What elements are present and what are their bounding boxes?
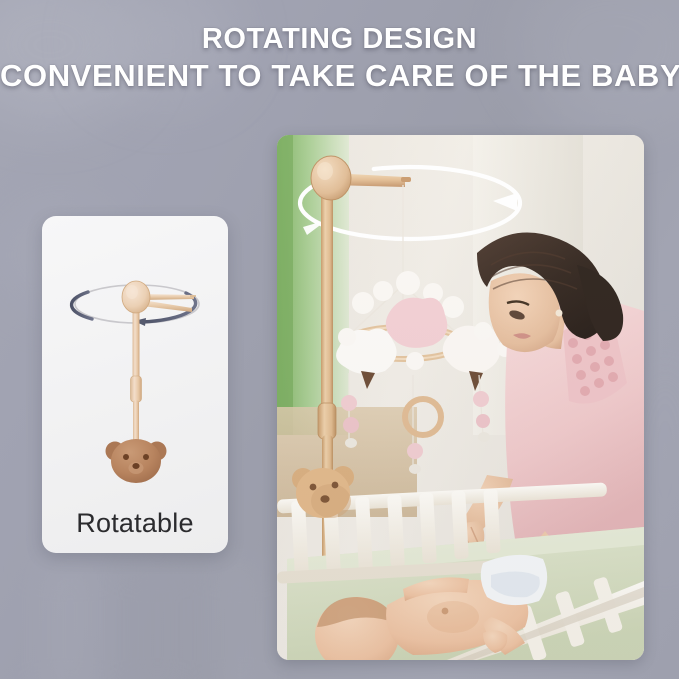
pompom-pink-5 [476, 414, 490, 428]
baby-belly-shade [427, 601, 479, 633]
photo-bear-nose [320, 495, 329, 503]
background-streak-1 [40, 560, 100, 679]
bead-left [345, 438, 357, 448]
pompom-top-5 [442, 296, 464, 318]
mother-earring [556, 310, 563, 317]
pompom-pink-2 [343, 417, 359, 433]
photo-mobile-pole-upper [321, 183, 333, 408]
bear-face [111, 439, 161, 483]
feature-card: Rotatable [42, 216, 228, 553]
bear-eye-left [123, 454, 129, 460]
bear-eye-right [143, 454, 149, 460]
rotatable-illustration [42, 216, 228, 488]
pompom-top-3 [396, 271, 420, 295]
mobile-pole-upper [133, 304, 140, 382]
photo-bear-eye-left [310, 484, 317, 491]
page-title: ROTATING DESIGN CONVENIENT TO TAKE CARE … [0, 22, 679, 95]
bear-head-clip [106, 439, 167, 483]
pompom-pink-4 [473, 391, 489, 407]
photo-mobile-pole-joint [318, 403, 336, 439]
pivot-disc-highlight [126, 285, 138, 299]
bead-right [478, 432, 490, 442]
photo-pivot-disc-highlight [317, 162, 333, 180]
title-line-2: CONVENIENT TO TAKE CARE OF THE BABY [0, 57, 679, 95]
bear-nose [132, 463, 139, 469]
photo-green-wall-edge [277, 135, 293, 435]
mobile-pole-joint [131, 376, 142, 402]
pompom-white-b [406, 352, 424, 370]
title-line-1: ROTATING DESIGN [0, 22, 679, 57]
pompom-white-c [474, 322, 492, 340]
pompom-pink-1 [341, 395, 357, 411]
pompom-top-1 [352, 292, 374, 314]
photo-pivot-disc [311, 156, 351, 200]
baby-navel [442, 608, 449, 615]
background-streak-3 [215, 560, 265, 679]
nursery-photo [277, 135, 644, 660]
photo-bear-face-shade [311, 484, 351, 518]
photo-mobile-arm-tip [401, 177, 411, 182]
feature-card-caption: Rotatable [42, 508, 228, 539]
pompom-top-2 [373, 281, 393, 301]
bead-mid [409, 464, 421, 474]
photo-bear-eye-right [332, 482, 339, 489]
background-streak-2 [130, 560, 185, 679]
pompom-pink-3 [407, 443, 423, 459]
pompom-white-a [338, 328, 356, 346]
